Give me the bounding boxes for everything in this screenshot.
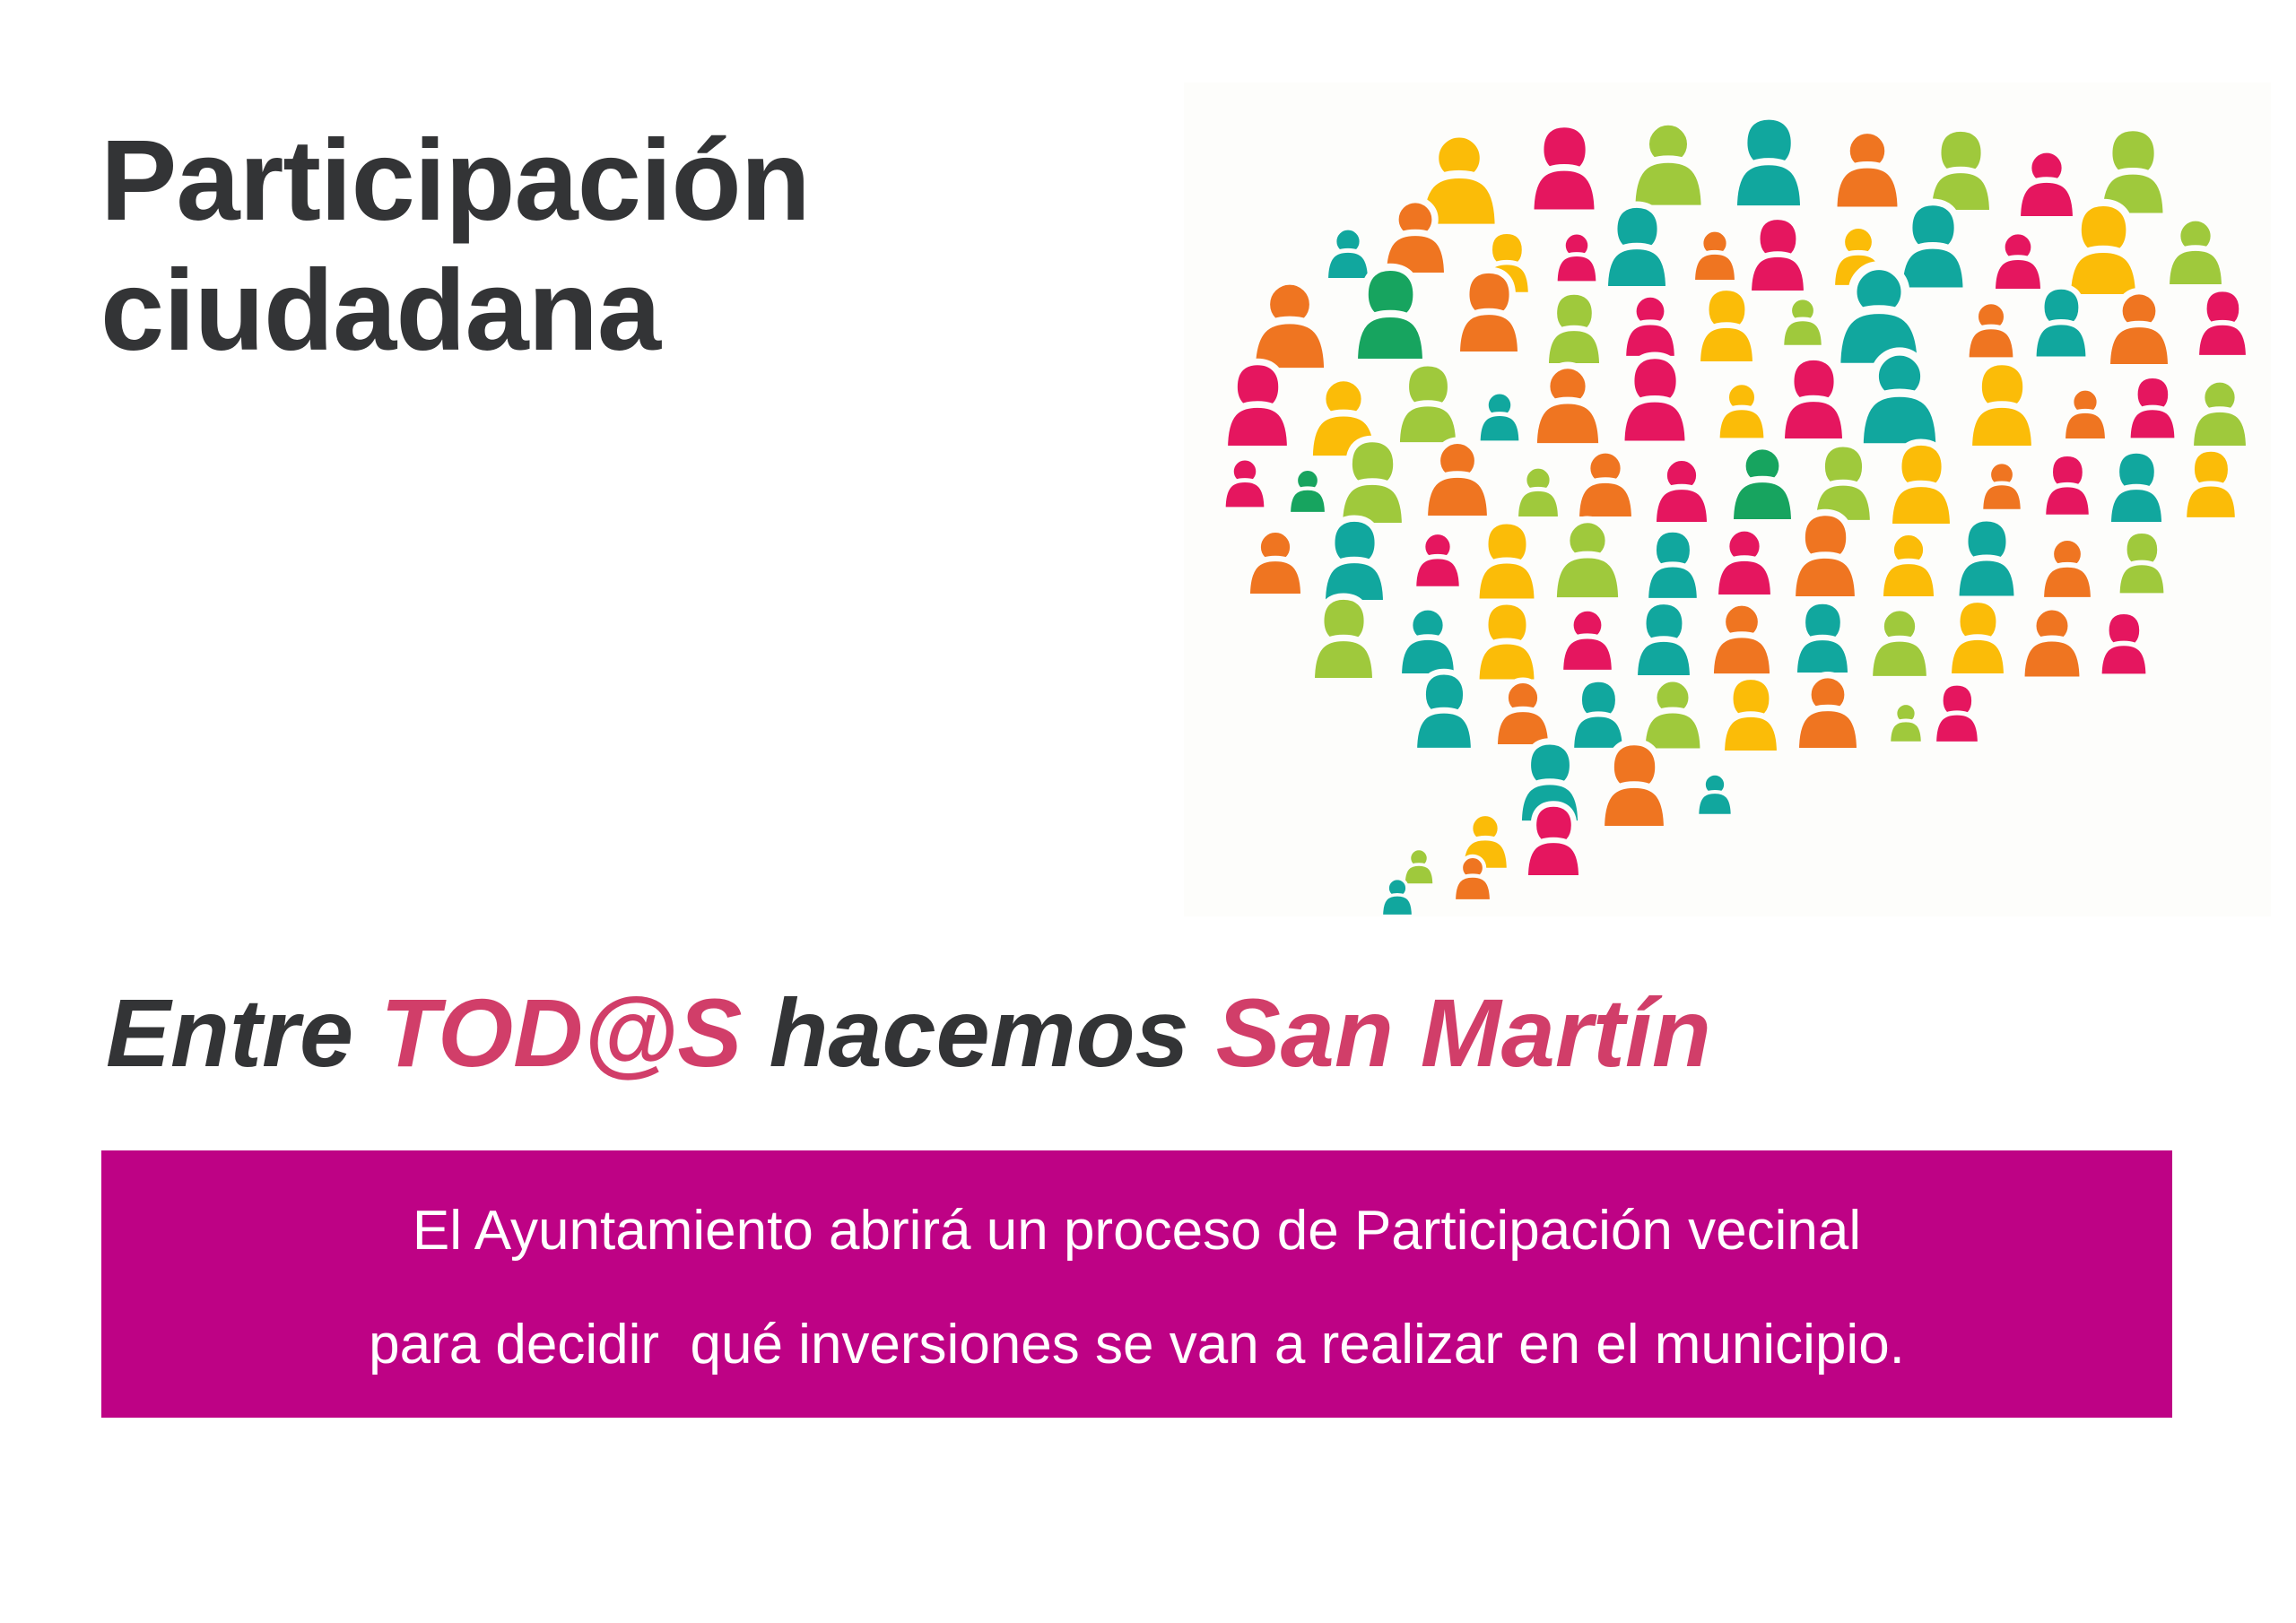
announcement-banner: El Ayuntamiento abrirá un proceso de Par… — [101, 1150, 2172, 1418]
tagline-part-todas: TOD@S — [380, 978, 742, 1087]
tagline-part-san-martin: San Martín — [1216, 978, 1711, 1087]
banner-line-1: El Ayuntamiento abrirá un proceso de Par… — [101, 1203, 2172, 1259]
tagline: Entre TOD@S hacemos San Martín — [106, 985, 2258, 1081]
speech-bubble-people-illustration — [1184, 82, 2271, 916]
banner-line-2: para decidir qué inversiones se van a re… — [101, 1317, 2172, 1373]
page-title: Participación ciudadana — [100, 117, 1105, 376]
tagline-part-hacemos: hacemos — [769, 978, 1188, 1087]
tagline-part-entre: Entre — [106, 978, 353, 1087]
